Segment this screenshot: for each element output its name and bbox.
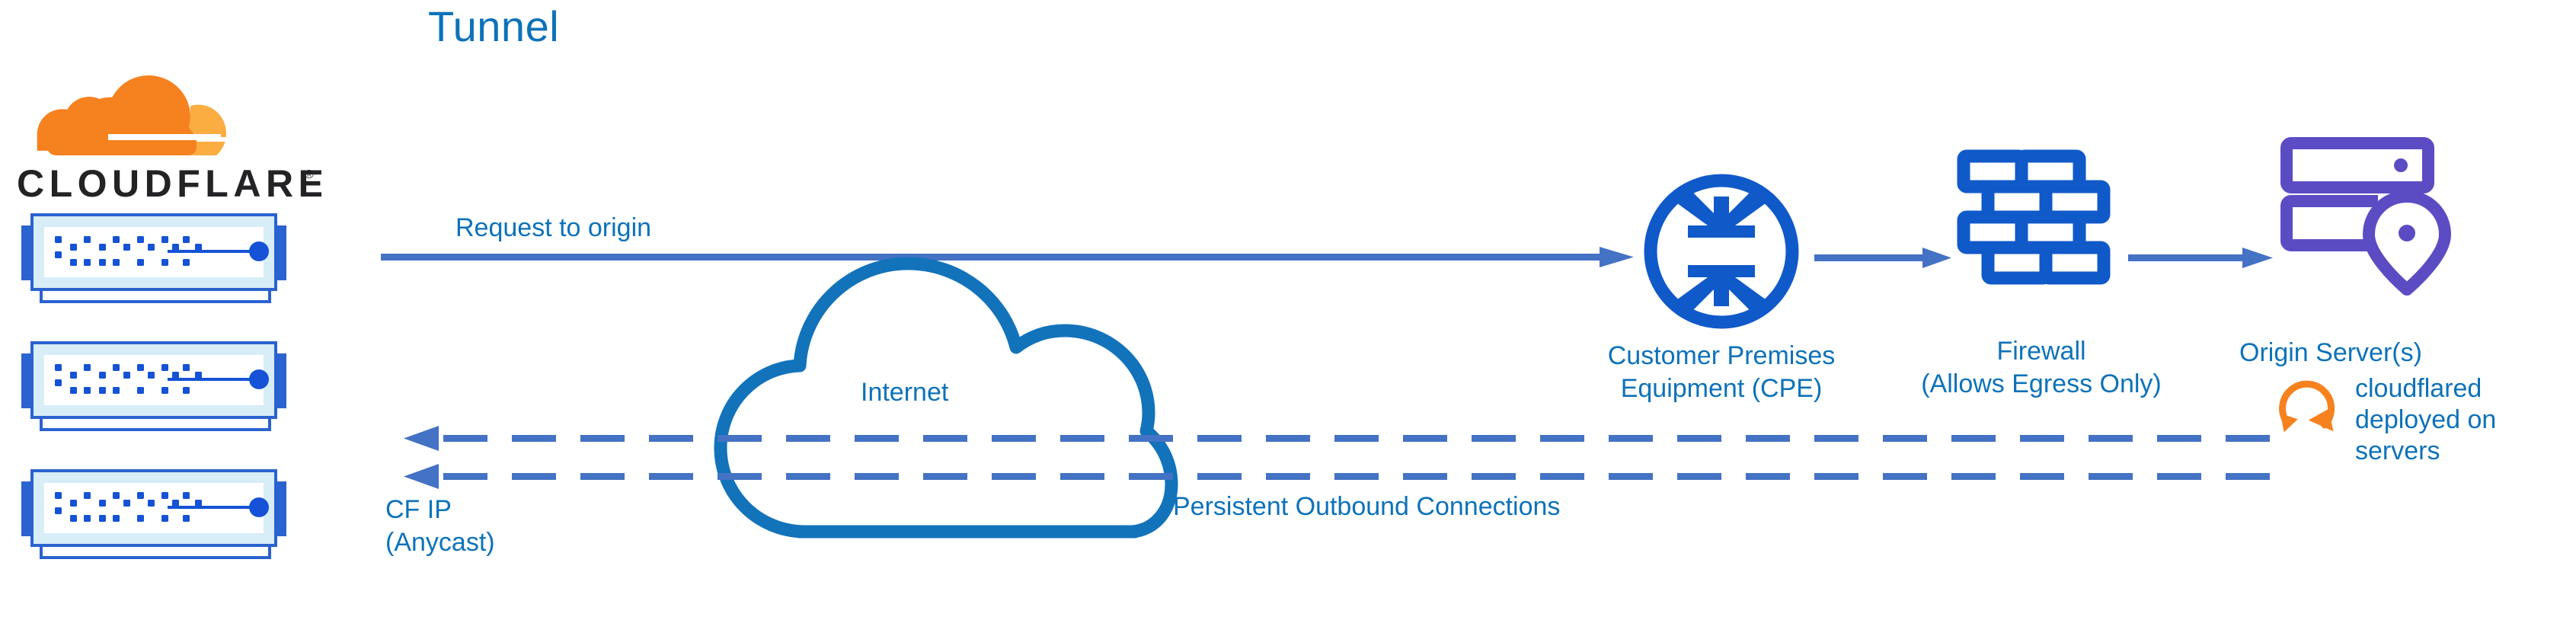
server-rack-location-pin-icon <box>2280 137 2457 297</box>
firewall-to-origin-arrow <box>2128 245 2273 271</box>
diagram-canvas: Tunnel CLOUDFLARE ® <box>0 0 2576 617</box>
cloudflare-edge-server-icon <box>8 340 320 431</box>
cloudflare-edge-server-icon <box>8 468 320 559</box>
cf-ip-label-line1: CF IP <box>385 494 495 526</box>
cloudflare-edge-server-icon <box>8 212 320 303</box>
firewall-label-line2: (Allows Egress Only) <box>1897 368 2186 401</box>
cloudflared-note-line1: cloudflared <box>2355 373 2576 404</box>
brick-wall-icon <box>1954 149 2122 301</box>
cpe-label-line2: Equipment (CPE) <box>1546 372 1897 405</box>
cloudflared-note-line2: deployed on <box>2355 404 2576 436</box>
cloudflare-wordmark: CLOUDFLARE ® <box>17 162 321 205</box>
svg-text:CLOUDFLARE: CLOUDFLARE <box>17 162 321 205</box>
origin-server-label: Origin Server(s) <box>2239 337 2514 369</box>
svg-text:®: ® <box>305 168 314 181</box>
cpe-label: Customer Premises Equipment (CPE) <box>1546 340 1897 404</box>
cloudflare-cloud-icon <box>37 75 229 155</box>
request-to-origin-label: Request to origin <box>455 213 651 243</box>
cpe-label-line1: Customer Premises <box>1546 340 1897 372</box>
firewall-label-line1: Firewall <box>1897 335 2186 368</box>
cloudflared-note-line3: servers <box>2355 436 2576 467</box>
cloudflared-note: cloudflared deployed on servers <box>2355 373 2576 466</box>
persistent-outbound-connections-label: Persistent Outbound Connections <box>1173 492 1560 522</box>
internet-label: Internet <box>861 378 948 408</box>
list-item <box>8 340 320 431</box>
cpe-to-firewall-arrow <box>1814 245 1951 271</box>
cloudflare-logo: CLOUDFLARE ® <box>17 47 321 207</box>
cf-ip-label-line2: (Anycast) <box>385 526 495 559</box>
cf-ip-label: CF IP (Anycast) <box>385 494 495 558</box>
list-item <box>8 212 320 303</box>
persistent-connection-line-lower <box>404 462 2281 492</box>
list-item <box>8 468 320 559</box>
persistent-connection-line-upper <box>404 424 2281 454</box>
page-title: Tunnel <box>428 2 559 51</box>
origin-label-line1: Origin Server(s) <box>2239 337 2514 369</box>
circular-refresh-arrow-icon <box>2277 379 2346 446</box>
router-converge-arrows-icon <box>1639 169 1804 334</box>
firewall-label: Firewall (Allows Egress Only) <box>1897 335 2186 400</box>
